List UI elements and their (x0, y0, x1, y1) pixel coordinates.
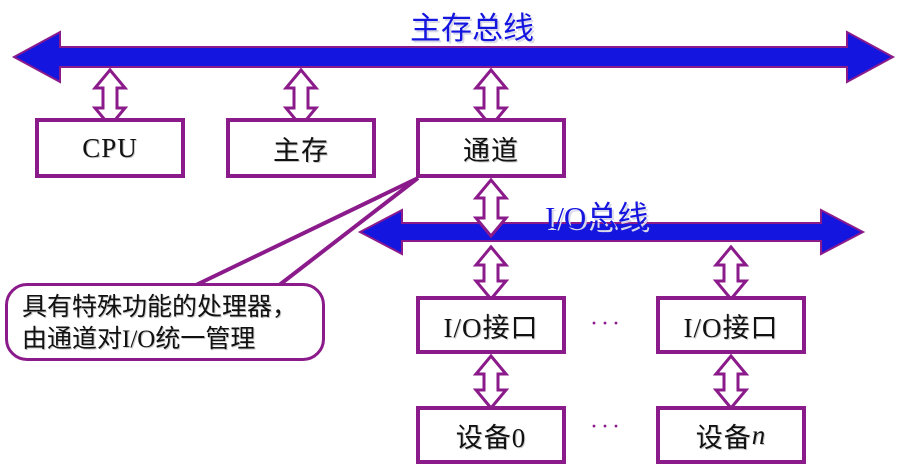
io-bus-title: I/O总线 (545, 192, 648, 237)
connector-interface-0-to-device-0 (476, 356, 506, 408)
channel-description-callout[interactable]: 具有特殊功能的处理器， 由通道对I/O统一管理 (5, 283, 325, 361)
callout-line-1: 具有特殊功能的处理器， (22, 292, 312, 324)
connector-io-bus-to-interface-0 (476, 247, 506, 299)
node-cpu[interactable]: CPU (35, 118, 185, 178)
node-device-0[interactable]: 设备0 (416, 406, 566, 464)
node-io-interface-n[interactable]: I/O接口 (656, 296, 806, 354)
device-0-label: 设备0 (456, 416, 527, 455)
callout-line-2: 由通道对I/O统一管理 (22, 324, 312, 356)
node-device-n[interactable]: 设备n (656, 406, 806, 464)
node-channel[interactable]: 通道 (416, 118, 566, 178)
diagram-vector-layer (0, 0, 907, 470)
ellipsis-devices: ··· (590, 415, 623, 439)
channel-io-architecture-diagram: 主存总线 I/O总线 CPU 主存 通道 I/O接口 I/O接口 ··· 设备0… (0, 0, 907, 470)
ellipsis-interfaces: ··· (590, 312, 623, 336)
device-n-index: n (752, 420, 767, 451)
main-bus-title: 主存总线 (410, 3, 534, 48)
device-n-label: 设备 (696, 416, 752, 455)
node-io-interface-0[interactable]: I/O接口 (416, 296, 566, 354)
connector-io-bus-to-interface-n (716, 247, 746, 299)
connector-interface-n-to-device-n (716, 356, 746, 408)
node-main-memory[interactable]: 主存 (226, 118, 376, 178)
